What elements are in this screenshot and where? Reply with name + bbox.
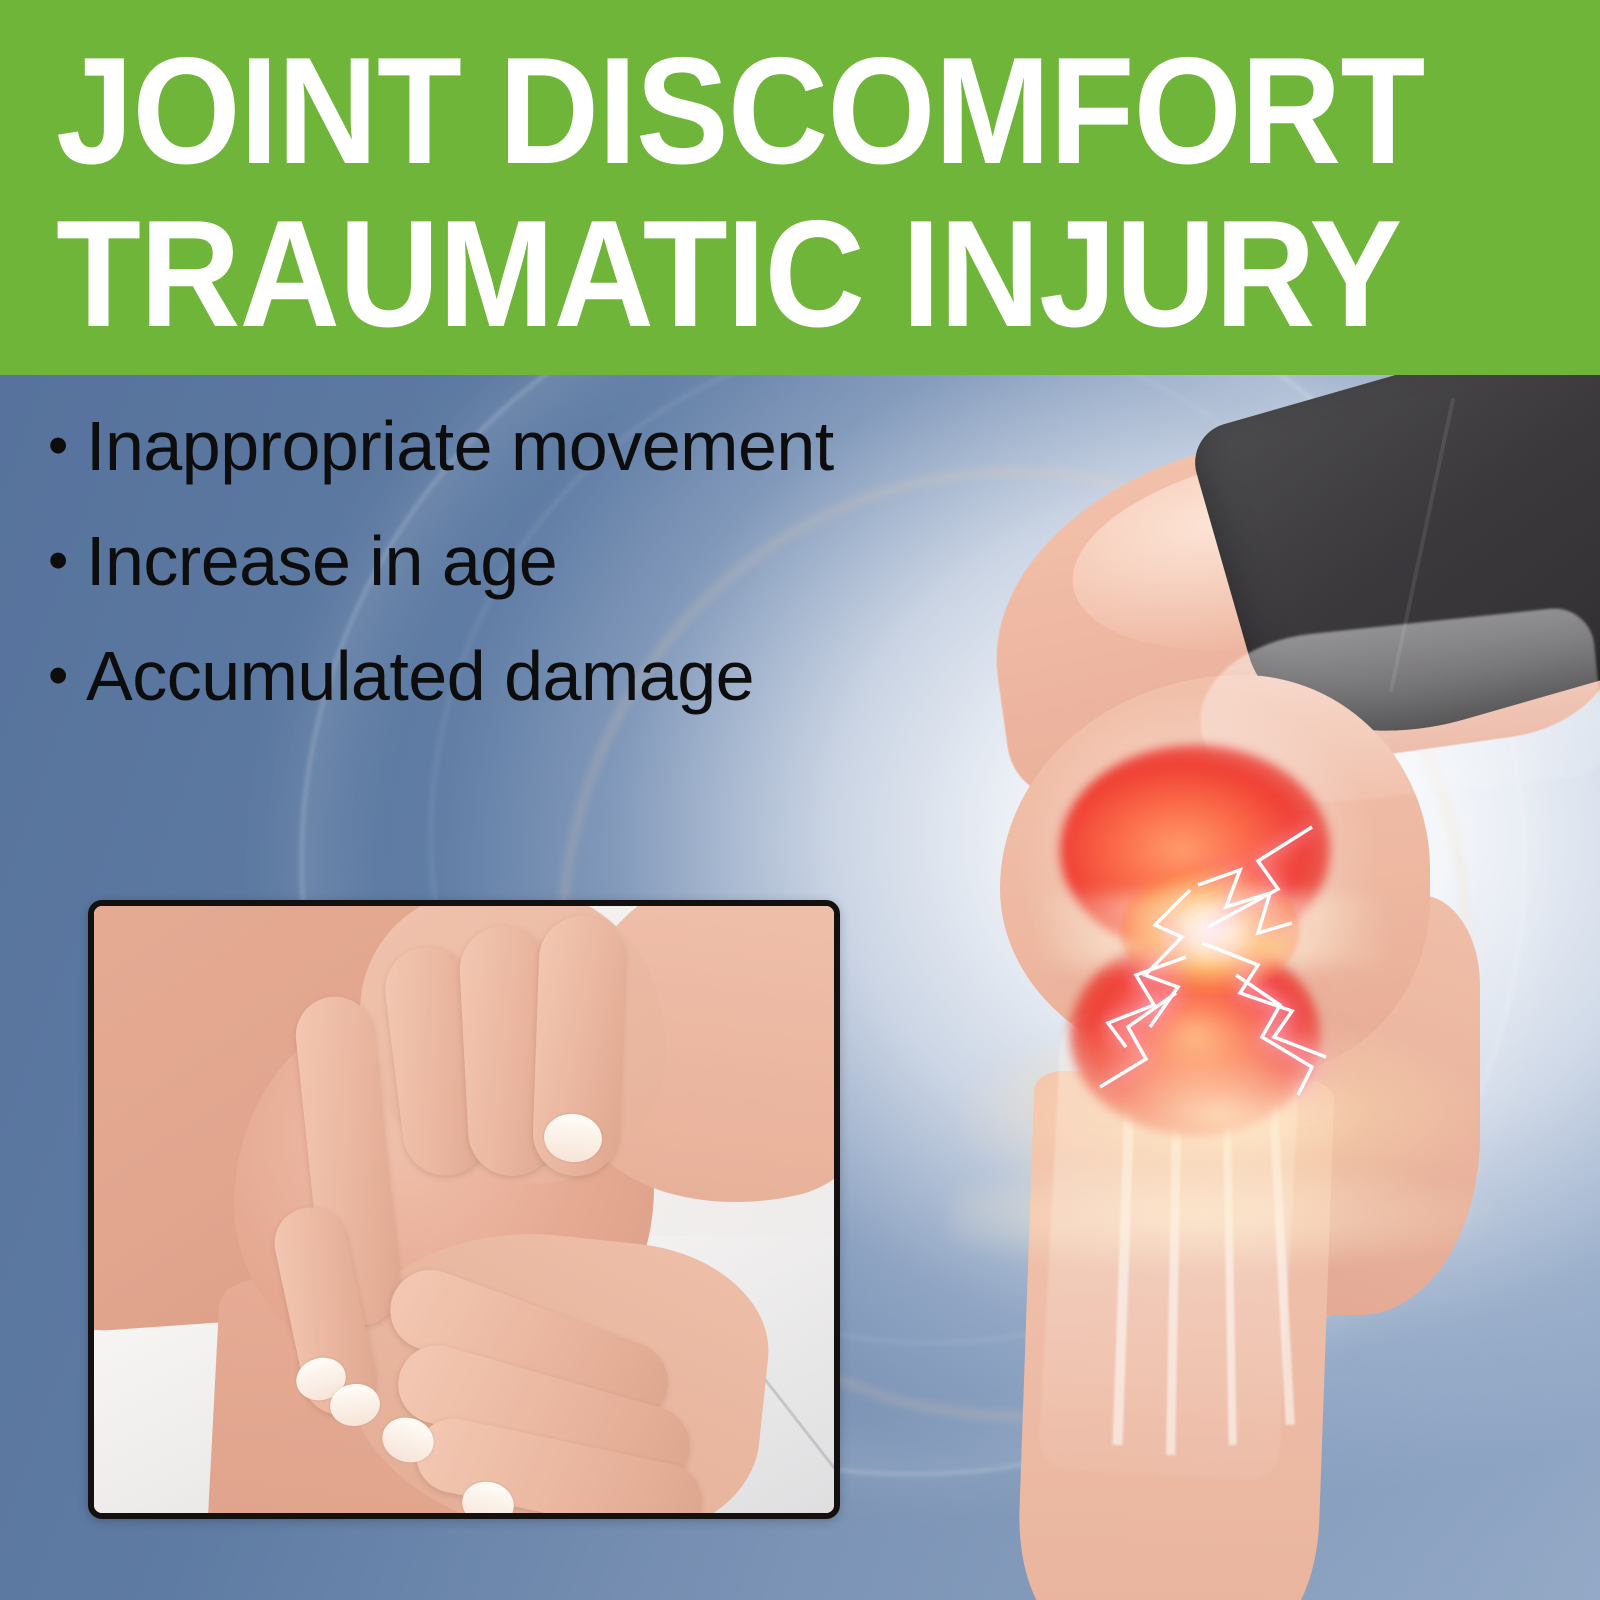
list-item-label: Inappropriate movement: [86, 400, 1088, 492]
cause-list: • Inappropriate movement • Increase in a…: [48, 400, 1088, 745]
list-item: • Increase in age: [48, 515, 1088, 630]
bullet-dot-icon: •: [48, 515, 86, 607]
bullet-dot-icon: •: [48, 400, 86, 492]
inset-photo-frame: [88, 900, 840, 1519]
list-item: • Inappropriate movement: [48, 400, 1088, 515]
header-banner: JOINT DISCOMFORT TRAUMATIC INJURY: [0, 0, 1600, 375]
page-title: JOINT DISCOMFORT TRAUMATIC INJURY: [56, 30, 1429, 356]
bullet-dot-icon: •: [48, 630, 86, 722]
list-item: • Accumulated damage: [48, 630, 1088, 745]
poster-canvas: JOINT DISCOMFORT TRAUMATIC INJURY • Inap…: [0, 0, 1600, 1600]
lightning-bolt-icon: [940, 675, 1500, 1195]
list-item-label: Increase in age: [86, 515, 1088, 607]
list-item-label: Accumulated damage: [86, 630, 1088, 722]
